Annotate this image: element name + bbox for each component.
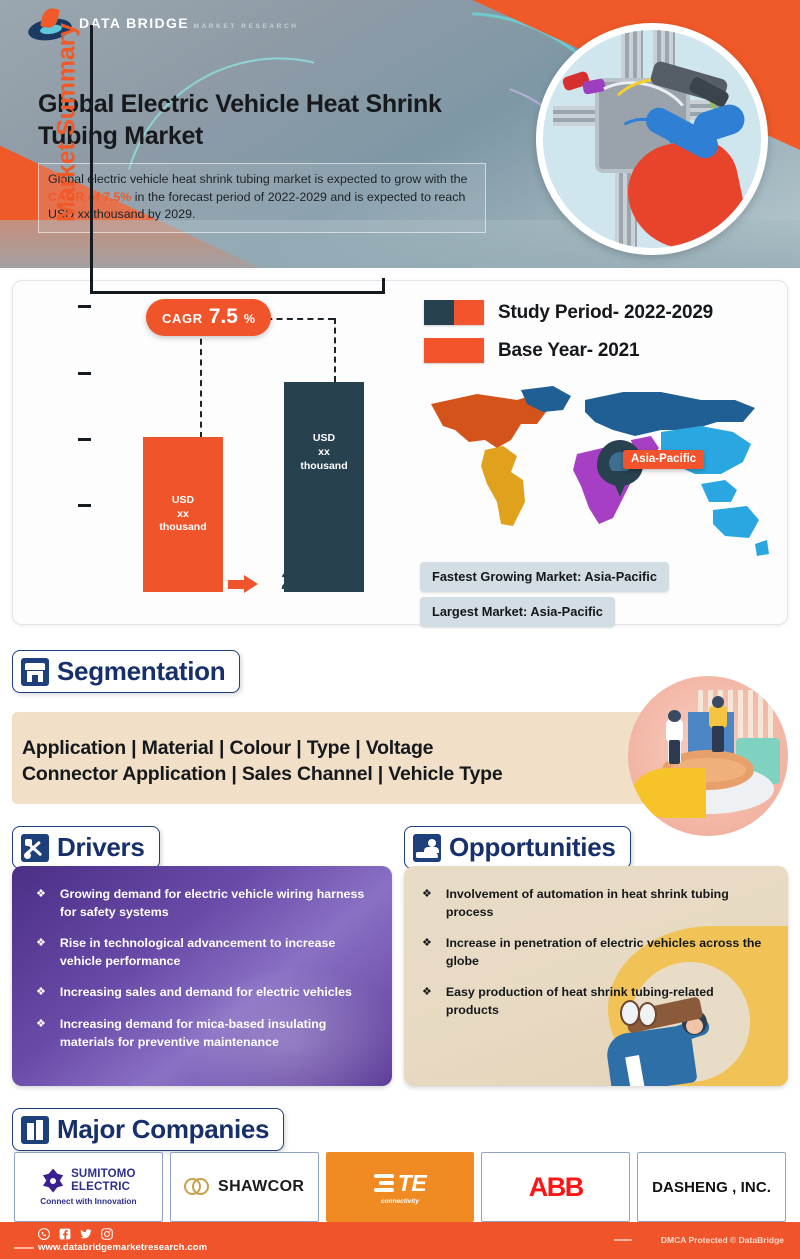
chart-tick bbox=[78, 372, 91, 375]
dasheng-label: DASHENG , INC. bbox=[652, 1179, 771, 1196]
bar-2022-line3: thousand bbox=[159, 521, 206, 535]
te-bars-icon bbox=[374, 1174, 394, 1193]
legend-base-year: Base Year- 2021 bbox=[424, 338, 639, 363]
chart-tick bbox=[78, 305, 91, 308]
bar-2029: USD xx thousand bbox=[284, 382, 364, 592]
infographic-page: DATA BRIDGE MARKET RESEARCH Global Elect… bbox=[0, 0, 800, 1259]
opportunities-heading-label: Opportunities bbox=[449, 832, 616, 863]
bar-2029-line3: thousand bbox=[300, 460, 347, 474]
bar-2022-line2: xx bbox=[159, 508, 206, 522]
chart-dashed-connector bbox=[334, 318, 336, 382]
segmentation-heading: Segmentation bbox=[12, 650, 240, 693]
hero-description: Global electric vehicle heat shrink tubi… bbox=[38, 163, 486, 233]
sumitomo-line2: ELECTRIC bbox=[71, 1181, 136, 1193]
drivers-item-text: Increasing sales and demand for electric… bbox=[60, 984, 352, 1002]
hero-photo bbox=[536, 23, 768, 255]
sumitomo-line1: SUMITOMO bbox=[71, 1168, 136, 1180]
list-item: ❖ Increasing sales and demand for electr… bbox=[36, 984, 374, 1002]
fastest-growing-market-chip: Fastest Growing Market: Asia-Pacific bbox=[420, 562, 669, 592]
sumitomo-tagline: Connect with Innovation bbox=[40, 1196, 136, 1206]
diamond-bullet-icon: ❖ bbox=[422, 987, 432, 1019]
drivers-heading-label: Drivers bbox=[57, 832, 145, 863]
right-arrow-icon bbox=[228, 575, 258, 592]
sumitomo-mark-icon bbox=[41, 1169, 65, 1193]
facebook-icon[interactable] bbox=[59, 1227, 71, 1239]
opportunities-item-text: Easy production of heat shrink tubing-re… bbox=[446, 984, 770, 1019]
cagr-percent-sign: % bbox=[244, 312, 255, 326]
list-item: ❖ Growing demand for electric vehicle wi… bbox=[36, 886, 374, 921]
segmentation-items: Application | Material | Colour | Type |… bbox=[22, 735, 622, 788]
cagr-value: 7.5 bbox=[209, 305, 238, 329]
store-icon bbox=[21, 658, 49, 686]
legend-study-period: Study Period- 2022-2029 bbox=[424, 300, 713, 325]
market-summary-axis-label: Market Summary bbox=[53, 8, 82, 238]
te-tagline: connectivity bbox=[381, 1198, 419, 1205]
cagr-badge: CAGR 7.5 % bbox=[146, 299, 271, 336]
segmentation-line-2: Connector Application | Sales Channel | … bbox=[22, 761, 622, 787]
footer-social-links bbox=[38, 1227, 113, 1239]
chart-x-axis bbox=[90, 291, 385, 294]
x-tick-2022: 2022 bbox=[143, 568, 195, 596]
bar-2029-line1: USD bbox=[300, 432, 347, 446]
major-companies-heading: Major Companies bbox=[12, 1108, 284, 1151]
x-tick-2029: 2029 bbox=[281, 568, 333, 596]
shawcor-label: SHAWCOR bbox=[218, 1178, 304, 1196]
diamond-bullet-icon: ❖ bbox=[36, 889, 46, 921]
diamond-bullet-icon: ❖ bbox=[36, 987, 46, 1002]
opportunity-person-icon bbox=[413, 834, 441, 862]
page-title: Global Electric Vehicle Heat Shrink Tubi… bbox=[38, 88, 483, 152]
drivers-list: ❖ Growing demand for electric vehicle wi… bbox=[36, 886, 374, 1065]
drivers-item-text: Increasing demand for mica-based insulat… bbox=[60, 1016, 374, 1051]
drivers-heading: Drivers bbox=[12, 826, 160, 869]
chart-y-axis bbox=[90, 25, 93, 293]
brand-name: DATA BRIDGE bbox=[79, 15, 189, 31]
list-item: ❖ Rise in technological advancement to i… bbox=[36, 935, 374, 970]
major-companies-heading-label: Major Companies bbox=[57, 1114, 269, 1145]
list-item: ❖ Increasing demand for mica-based insul… bbox=[36, 1016, 374, 1051]
company-logo-sumitomo[interactable]: SUMITOMO ELECTRIC Connect with Innovatio… bbox=[14, 1152, 163, 1222]
hero-banner: DATA BRIDGE MARKET RESEARCH Global Elect… bbox=[0, 0, 800, 268]
company-logo-abb[interactable]: ABB bbox=[481, 1152, 630, 1222]
opportunities-heading: Opportunities bbox=[404, 826, 631, 869]
bar-2022-line1: USD bbox=[159, 494, 206, 508]
drivers-panel: ❖ Growing demand for electric vehicle wi… bbox=[12, 866, 392, 1086]
legend-swatch-orange-icon bbox=[424, 338, 484, 363]
diamond-bullet-icon: ❖ bbox=[36, 938, 46, 970]
building-icon bbox=[21, 1116, 49, 1144]
shawcor-mark-icon bbox=[184, 1178, 210, 1196]
diamond-bullet-icon: ❖ bbox=[422, 938, 432, 970]
chart-tick bbox=[78, 504, 91, 507]
opportunities-list: ❖ Involvement of automation in heat shri… bbox=[422, 886, 770, 1034]
opportunities-item-text: Increase in penetration of electric vehi… bbox=[446, 935, 770, 970]
map-region-europe-russia bbox=[585, 392, 755, 436]
bar-2022-label: USD xx thousand bbox=[159, 494, 206, 536]
list-item: ❖ Involvement of automation in heat shri… bbox=[422, 886, 770, 921]
footer-copyright: DMCA Protected © DataBridge bbox=[661, 1235, 784, 1245]
bar-2029-line2: xx bbox=[300, 446, 347, 460]
instagram-icon[interactable] bbox=[101, 1227, 113, 1239]
legend-study-period-label: Study Period- 2022-2029 bbox=[498, 302, 713, 324]
legend-base-year-label: Base Year- 2021 bbox=[498, 340, 639, 362]
phone-icon[interactable] bbox=[38, 1227, 50, 1239]
world-map: Asia-Pacific bbox=[425, 378, 775, 563]
cagr-label: CAGR bbox=[162, 311, 203, 326]
chart-tick bbox=[78, 438, 91, 441]
abb-label: ABB bbox=[529, 1172, 583, 1203]
chart-axis-end-cap bbox=[382, 278, 385, 294]
footer-right-dash bbox=[614, 1239, 632, 1241]
tools-icon bbox=[21, 834, 49, 862]
footer-bar: www.databridgemarketresearch.com DMCA Pr… bbox=[0, 1222, 800, 1259]
drivers-item-text: Growing demand for electric vehicle wiri… bbox=[60, 886, 374, 921]
map-region-nz bbox=[755, 540, 769, 556]
drivers-item-text: Rise in technological advancement to inc… bbox=[60, 935, 374, 970]
largest-market-chip: Largest Market: Asia-Pacific bbox=[420, 597, 615, 627]
opportunities-item-text: Involvement of automation in heat shrink… bbox=[446, 886, 770, 921]
footer-left-dash bbox=[14, 1247, 34, 1249]
legend-swatch-pair-icon bbox=[424, 300, 484, 325]
brand-tagline: MARKET RESEARCH bbox=[193, 23, 298, 30]
footer-url[interactable]: www.databridgemarketresearch.com bbox=[38, 1242, 207, 1253]
company-logo-shawcor[interactable]: SHAWCOR bbox=[170, 1152, 319, 1222]
opportunities-panel: ❖ Involvement of automation in heat shri… bbox=[404, 866, 788, 1086]
market-analysis-illustration bbox=[628, 676, 788, 836]
map-pin-label: Asia-Pacific bbox=[623, 450, 704, 469]
te-label: TE bbox=[398, 1170, 426, 1197]
list-item: ❖ Easy production of heat shrink tubing-… bbox=[422, 984, 770, 1019]
company-logo-te-connectivity[interactable]: TE connectivity bbox=[326, 1152, 475, 1222]
bar-2029-label: USD xx thousand bbox=[300, 432, 347, 474]
list-item: ❖ Increase in penetration of electric ve… bbox=[422, 935, 770, 970]
hero-desc-part1: Global electric vehicle heat shrink tubi… bbox=[48, 172, 467, 186]
diamond-bullet-icon: ❖ bbox=[36, 1019, 46, 1051]
company-logo-row: SUMITOMO ELECTRIC Connect with Innovatio… bbox=[14, 1152, 786, 1222]
diamond-bullet-icon: ❖ bbox=[422, 889, 432, 921]
segmentation-heading-label: Segmentation bbox=[57, 656, 225, 687]
map-region-south-america bbox=[481, 446, 525, 526]
map-region-sea bbox=[701, 480, 737, 502]
chart-dashed-connector bbox=[200, 318, 202, 438]
company-logo-dasheng[interactable]: DASHENG , INC. bbox=[637, 1152, 786, 1222]
segmentation-line-1: Application | Material | Colour | Type |… bbox=[22, 735, 622, 761]
map-region-australia bbox=[713, 506, 759, 538]
twitter-icon[interactable] bbox=[80, 1227, 92, 1239]
